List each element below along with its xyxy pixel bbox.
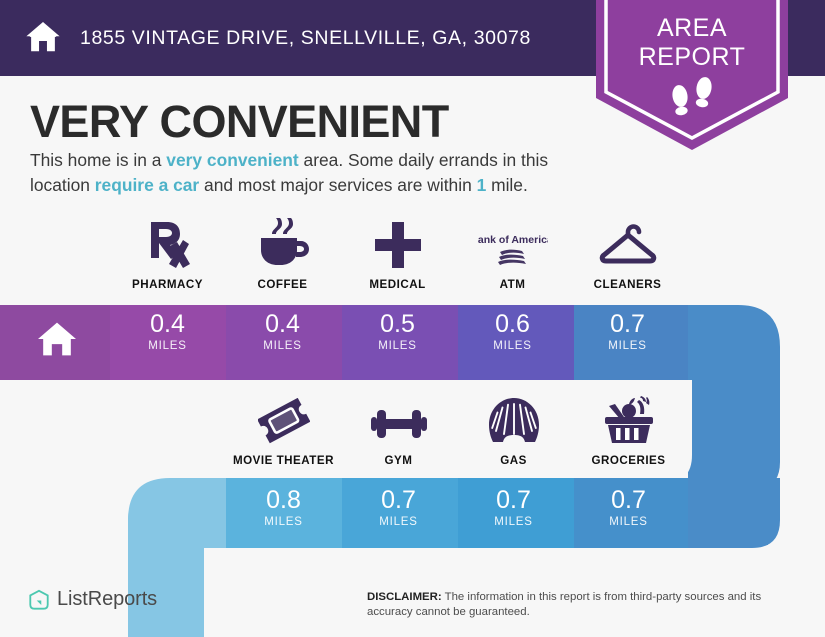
amenity-gas: GAS bbox=[456, 394, 571, 467]
badge-shape bbox=[596, 0, 788, 150]
distance-unit: MILES bbox=[456, 515, 571, 529]
distances-row-1: 0.4 MILES 0.4 MILES 0.5 MILES 0.6 MILES … bbox=[110, 310, 685, 353]
amenity-icons-row-1: PHARMACY COFFEE MEDICAL bbox=[110, 218, 685, 291]
brand-logo: ListReports bbox=[28, 588, 157, 611]
amenity-medical: MEDICAL bbox=[340, 218, 455, 291]
svg-text:Bank of America.: Bank of America. bbox=[478, 234, 548, 246]
distance-pharmacy: 0.4 MILES bbox=[110, 310, 225, 353]
dumbbell-icon bbox=[371, 394, 427, 444]
amenity-label: CLEANERS bbox=[594, 278, 662, 291]
area-report-badge: AREA REPORT bbox=[596, 0, 788, 154]
distance-value: 0.8 bbox=[226, 486, 341, 515]
amenity-coffee: COFFEE bbox=[225, 218, 340, 291]
distance-unit: MILES bbox=[571, 515, 686, 529]
amenity-label: PHARMACY bbox=[132, 278, 203, 291]
groceries-icon bbox=[603, 394, 655, 444]
amenity-label: ATM bbox=[500, 278, 526, 291]
amenity-label: COFFEE bbox=[257, 278, 307, 291]
amenity-icons-row-2: MOVIE THEATER GYM bbox=[226, 394, 686, 467]
distance-value: 0.4 bbox=[225, 310, 340, 339]
amenity-movie-theater: MOVIE THEATER bbox=[226, 394, 341, 467]
distance-movie-theater: 0.8 MILES bbox=[226, 486, 341, 529]
distances-row-2: 0.8 MILES 0.7 MILES 0.7 MILES 0.7 MILES bbox=[226, 486, 686, 529]
distance-value: 0.7 bbox=[571, 486, 686, 515]
distance-unit: MILES bbox=[340, 339, 455, 353]
distance-value: 0.6 bbox=[455, 310, 570, 339]
disclaimer: DISCLAIMER: The information in this repo… bbox=[367, 590, 795, 620]
hanger-icon bbox=[597, 218, 659, 268]
rx-icon bbox=[145, 218, 191, 268]
distance-value: 0.4 bbox=[110, 310, 225, 339]
distance-unit: MILES bbox=[225, 339, 340, 353]
brand-name: ListReports bbox=[57, 588, 157, 611]
distance-value: 0.5 bbox=[340, 310, 455, 339]
amenity-label: GROCERIES bbox=[591, 454, 665, 467]
path-start-home-icon bbox=[36, 320, 78, 358]
amenity-label: GYM bbox=[385, 454, 413, 467]
shell-icon bbox=[489, 394, 539, 444]
ticket-icon bbox=[258, 394, 310, 444]
medical-icon bbox=[375, 218, 421, 268]
distance-unit: MILES bbox=[341, 515, 456, 529]
distance-coffee: 0.4 MILES bbox=[225, 310, 340, 353]
amenity-groceries: GROCERIES bbox=[571, 394, 686, 467]
distance-groceries: 0.7 MILES bbox=[571, 486, 686, 529]
bank-icon: Bank of America. bbox=[478, 218, 548, 268]
distance-unit: MILES bbox=[110, 339, 225, 353]
distance-gym: 0.7 MILES bbox=[341, 486, 456, 529]
amenity-pharmacy: PHARMACY bbox=[110, 218, 225, 291]
amenity-label: MOVIE THEATER bbox=[233, 454, 334, 467]
distance-unit: MILES bbox=[570, 339, 685, 353]
distance-atm: 0.6 MILES bbox=[455, 310, 570, 353]
distance-value: 0.7 bbox=[456, 486, 571, 515]
coffee-icon bbox=[257, 218, 309, 268]
distance-gas: 0.7 MILES bbox=[456, 486, 571, 529]
amenity-cleaners: CLEANERS bbox=[570, 218, 685, 291]
listreports-logo-icon bbox=[28, 589, 50, 611]
distance-value: 0.7 bbox=[341, 486, 456, 515]
amenity-label: MEDICAL bbox=[369, 278, 425, 291]
distance-unit: MILES bbox=[226, 515, 341, 529]
amenity-label: GAS bbox=[500, 454, 527, 467]
distance-value: 0.7 bbox=[570, 310, 685, 339]
distance-medical: 0.5 MILES bbox=[340, 310, 455, 353]
disclaimer-label: DISCLAIMER: bbox=[367, 591, 442, 603]
distance-unit: MILES bbox=[455, 339, 570, 353]
area-report-infographic: 1855 VINTAGE DRIVE, SNELLVILLE, GA, 3007… bbox=[0, 0, 825, 637]
amenity-atm: Bank of America. ATM bbox=[455, 218, 570, 291]
distance-cleaners: 0.7 MILES bbox=[570, 310, 685, 353]
amenity-gym: GYM bbox=[341, 394, 456, 467]
